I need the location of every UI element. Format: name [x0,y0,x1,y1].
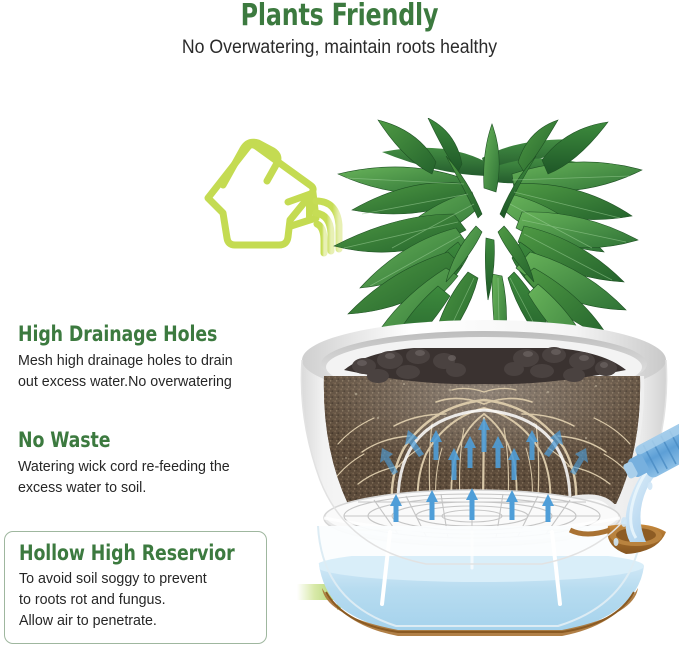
header: Plants Friendly No Overwatering, maintai… [0,0,679,78]
feature-no-waste: No Waste Watering wick cord re-feeding t… [18,428,280,498]
feature-heading: Hollow High Reservior [19,541,246,566]
planter-pot [301,320,666,636]
water-reservoir [316,526,644,636]
feature-hollow-high-reservoir: Hollow High Reservior To avoid soil sogg… [4,531,267,644]
feature-heading: High Drainage Holes [18,322,259,347]
feature-body-line: Mesh high drainage holes to drain [18,350,267,371]
feature-body-line: out excess water.No overwatering [18,371,267,392]
feature-heading: No Waste [18,428,259,453]
page-subtitle: No Overwatering, maintain roots healthy [24,36,655,60]
feature-body-line: to roots rot and fungus. [19,589,254,610]
page-title: Plants Friendly [41,0,639,33]
feature-body-line: Allow air to penetrate. [19,610,254,631]
feature-body-line: To avoid soil soggy to prevent [19,568,254,589]
feature-body-line: Watering wick cord re-feeding the [18,456,267,477]
feature-high-drainage-holes: High Drainage Holes Mesh high drainage h… [18,322,280,392]
feature-body-line: excess water to soil. [18,477,267,498]
self-watering-planter-cutaway [286,118,679,651]
